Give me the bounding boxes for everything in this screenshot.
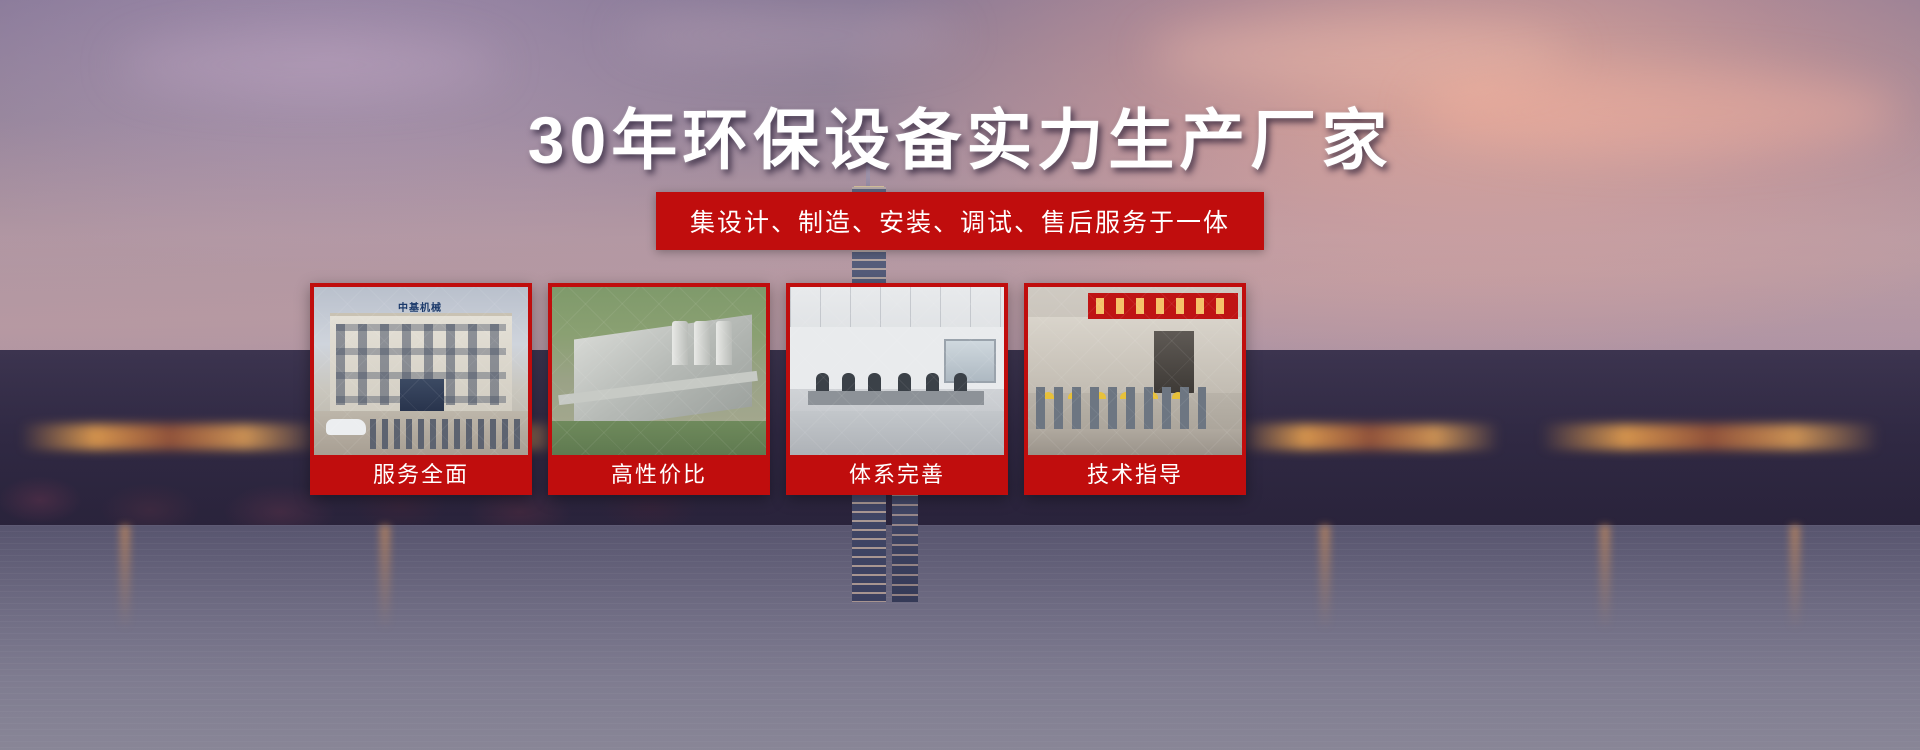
hero-banner: 30年环保设备实力生产厂家 集设计、制造、安装、调试、售后服务于一体 中基机械 … — [0, 0, 1920, 750]
factory-door — [1154, 331, 1194, 393]
card-photo-company-building: 中基机械 — [314, 287, 528, 455]
feature-card-list: 中基机械 服务全面 — [310, 283, 1246, 495]
silo — [716, 321, 732, 365]
office-floor — [790, 411, 1004, 455]
parked-car — [326, 419, 366, 435]
factory-floor — [1028, 429, 1242, 455]
feature-card-label: 技术指导 — [1028, 455, 1242, 495]
banner-subtitle: 集设计、制造、安装、调试、售后服务于一体 — [656, 192, 1264, 250]
staff-row — [370, 419, 520, 449]
office-desk — [808, 391, 984, 405]
feature-card-label: 高性价比 — [552, 455, 766, 495]
green-field — [552, 421, 766, 455]
feature-card-label: 服务全面 — [314, 455, 528, 495]
feature-card[interactable]: 中基机械 服务全面 — [310, 283, 532, 495]
feature-card-label: 体系完善 — [790, 455, 1004, 495]
silo — [694, 321, 710, 365]
factory-banner-sign — [1088, 293, 1238, 319]
card-photo-industrial-plant — [552, 287, 766, 455]
banner-content: 30年环保设备实力生产厂家 集设计、制造、安装、调试、售后服务于一体 中基机械 … — [0, 0, 1920, 750]
building-entrance — [400, 379, 444, 415]
card-photo-factory-workers — [1028, 287, 1242, 455]
ceiling — [790, 287, 1004, 327]
banner-headline: 30年环保设备实力生产厂家 — [0, 104, 1920, 177]
silo — [672, 321, 688, 365]
feature-card[interactable]: 高性价比 — [548, 283, 770, 495]
factory-wall — [1028, 317, 1242, 393]
feature-card[interactable]: 体系完善 — [786, 283, 1008, 495]
feature-card[interactable]: 技术指导 — [1024, 283, 1246, 495]
card-photo-office-interior — [790, 287, 1004, 455]
banner-subtitle-wrap: 集设计、制造、安装、调试、售后服务于一体 — [0, 192, 1920, 250]
window — [944, 339, 996, 383]
building-sign-text: 中基机械 — [374, 299, 466, 312]
